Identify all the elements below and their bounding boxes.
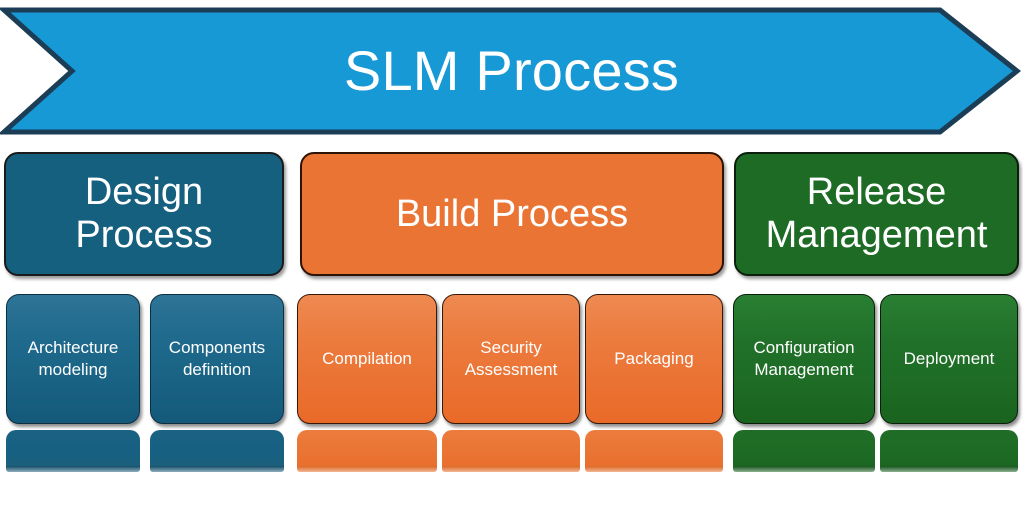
- step-reflection-row: [0, 430, 1023, 476]
- step-label-deployment: Deployment: [897, 348, 1002, 370]
- phase-row: Design Process Build Process Release Man…: [0, 150, 1023, 278]
- step-box-architecture-modeling[interactable]: Architecture modeling: [6, 294, 140, 424]
- step-label-configuration-management: Configuration Management: [734, 337, 874, 381]
- phase-box-design[interactable]: Design Process: [4, 152, 284, 276]
- slm-process-diagram: SLM Process Design Process Build Process…: [0, 0, 1023, 510]
- phase-box-build[interactable]: Build Process: [300, 152, 724, 276]
- step-box-security-assessment[interactable]: Security Assessment: [442, 294, 580, 424]
- phase-box-release[interactable]: Release Management: [734, 152, 1019, 276]
- banner-chevron-shape: [0, 6, 1023, 136]
- reflection-security-assessment: [442, 430, 580, 472]
- step-label-security-assessment: Security Assessment: [443, 337, 579, 381]
- reflection-architecture-modeling: [6, 430, 140, 472]
- phase-label-design: Design Process: [6, 171, 282, 256]
- step-label-packaging: Packaging: [607, 348, 700, 370]
- step-label-components-definition: Components definition: [151, 337, 283, 381]
- reflection-components-definition: [150, 430, 284, 472]
- reflection-deployment: [880, 430, 1018, 472]
- step-box-configuration-management[interactable]: Configuration Management: [733, 294, 875, 424]
- step-row: Architecture modeling Components definit…: [0, 292, 1023, 428]
- step-label-architecture-modeling: Architecture modeling: [7, 337, 139, 381]
- slm-process-banner: SLM Process: [0, 6, 1023, 136]
- phase-label-build: Build Process: [388, 193, 636, 236]
- step-box-packaging[interactable]: Packaging: [585, 294, 723, 424]
- step-label-compilation: Compilation: [315, 348, 419, 370]
- phase-label-release: Release Management: [736, 171, 1017, 256]
- reflection-packaging: [585, 430, 723, 472]
- chevron-arrow-icon: [4, 10, 1017, 132]
- reflection-compilation: [297, 430, 437, 472]
- reflection-configuration-management: [733, 430, 875, 472]
- step-box-components-definition[interactable]: Components definition: [150, 294, 284, 424]
- step-box-compilation[interactable]: Compilation: [297, 294, 437, 424]
- step-box-deployment[interactable]: Deployment: [880, 294, 1018, 424]
